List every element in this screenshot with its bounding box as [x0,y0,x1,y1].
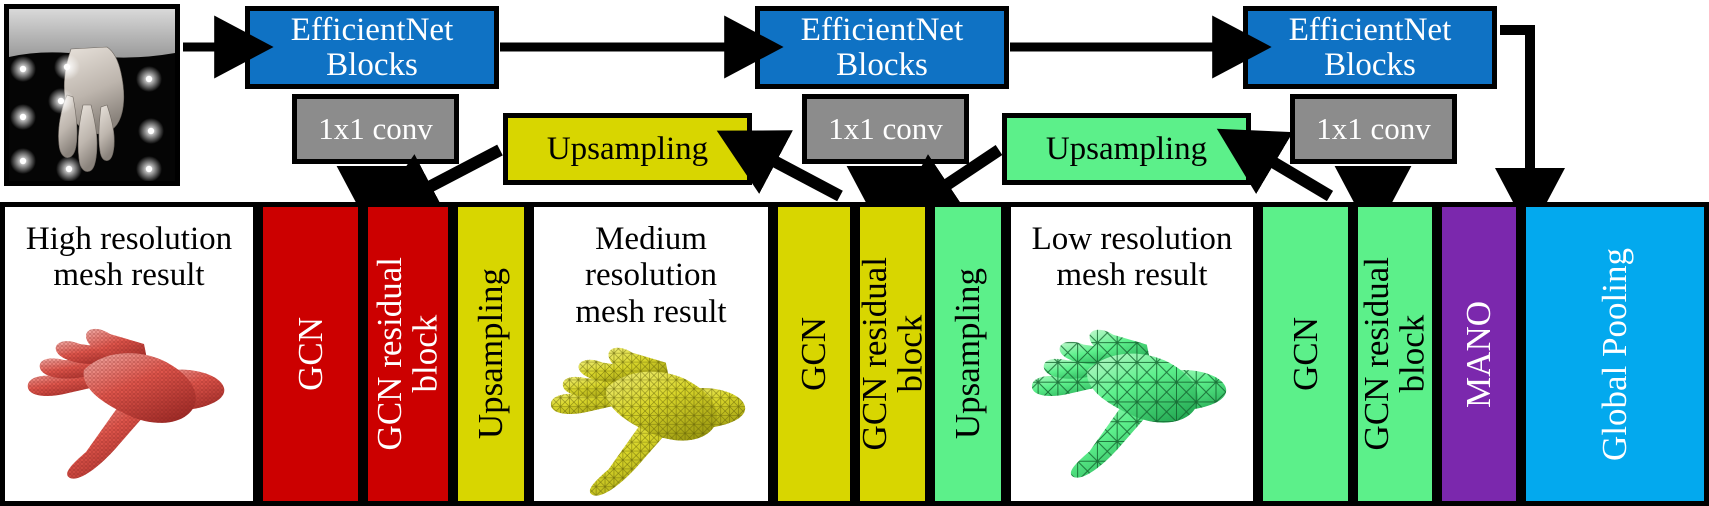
upsampling-stage-yellow: Upsampling [453,207,529,501]
architecture-diagram: EfficientNet Blocks EfficientNet Blocks … [0,0,1709,506]
efficientnet-block-1-label: EfficientNet Blocks [291,13,454,82]
mano-block-label: MANO [1461,301,1497,408]
efficientnet-block-3: EfficientNet Blocks [1243,6,1497,89]
upsampling-box-yellow: Upsampling [503,113,752,185]
efficientnet-block-2-label: EfficientNet Blocks [801,13,964,82]
conv-1x1-block-3-label: 1x1 conv [1316,113,1431,146]
medium-resolution-mesh-image [534,330,768,501]
high-resolution-mesh-result: High resolution mesh result [5,207,258,501]
conv-1x1-block-2: 1x1 conv [802,94,969,164]
upsampling-box-yellow-label: Upsampling [547,132,708,167]
gcn-residual-block-medium-res: GCN residual block [855,207,930,501]
gcn-residual-block-low-res-label: GCN residual block [1359,257,1430,450]
multi-resolution-stage-strip: High resolution mesh result [0,202,1709,506]
low-resolution-mesh-result: Low resolution mesh result [1006,207,1258,501]
efficientnet-block-3-label: EfficientNet Blocks [1289,13,1452,82]
low-resolution-mesh-title: Low resolution mesh result [1032,221,1233,294]
gcn-block-medium-res: GCN [773,207,855,501]
upsampling-stage-green-label: Upsampling [950,268,986,439]
gcn-block-high-res: GCN [258,207,363,501]
upsampling-box-green-label: Upsampling [1046,132,1207,167]
efficientnet-block-2: EfficientNet Blocks [755,6,1009,89]
gcn-block-high-res-label: GCN [293,317,329,391]
gcn-residual-block-medium-res-label: GCN residual block [857,257,928,450]
mano-block: MANO [1437,207,1521,501]
conv-1x1-block-3: 1x1 conv [1290,94,1457,164]
medium-resolution-mesh-title: Medium resolution mesh result [534,221,768,330]
efficientnet-block-1: EfficientNet Blocks [245,6,499,89]
gcn-block-low-res-label: GCN [1288,317,1324,391]
gcn-residual-block-low-res: GCN residual block [1353,207,1437,501]
high-resolution-mesh-image [5,294,253,501]
conv-1x1-block-2-label: 1x1 conv [828,113,943,146]
medium-resolution-mesh-result: Medium resolution mesh result [529,207,773,501]
gcn-residual-block-high-res: GCN residual block [363,207,453,501]
global-pooling-block: Global Pooling [1521,207,1704,501]
high-resolution-mesh-title: High resolution mesh result [26,221,232,294]
conv-1x1-block-1: 1x1 conv [292,94,459,164]
low-resolution-mesh-image [1011,294,1253,501]
input-hand-image-content [9,9,175,181]
upsampling-stage-green: Upsampling [930,207,1006,501]
global-pooling-block-label: Global Pooling [1597,248,1633,461]
gcn-block-low-res: GCN [1258,207,1353,501]
upsampling-stage-yellow-label: Upsampling [473,268,509,439]
conv-1x1-block-1-label: 1x1 conv [318,113,433,146]
input-hand-image [4,4,180,186]
gcn-block-medium-res-label: GCN [796,317,832,391]
gcn-residual-block-high-res-label: GCN residual block [372,257,443,450]
upsampling-box-green: Upsampling [1002,113,1251,185]
